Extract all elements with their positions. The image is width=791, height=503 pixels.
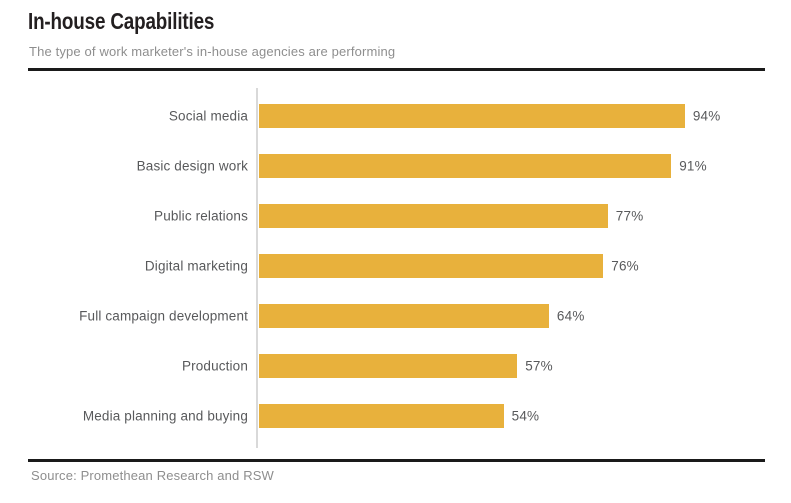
page-title: In-house Capabilities	[28, 8, 214, 35]
bar	[259, 104, 685, 128]
bar-row: Public relations77%	[0, 191, 791, 241]
category-label: Media planning and buying	[83, 409, 248, 424]
bar	[259, 304, 549, 328]
bar-value-label: 91%	[679, 159, 707, 174]
category-label: Basic design work	[137, 159, 248, 174]
category-label: Production	[182, 359, 248, 374]
source-note: Source: Promethean Research and RSW	[31, 468, 274, 483]
chart-subtitle: The type of work marketer's in-house age…	[29, 44, 395, 59]
bar-value-label: 77%	[616, 209, 644, 224]
bar-value-label: 64%	[557, 309, 585, 324]
bar-value-label: 76%	[611, 259, 639, 274]
category-label: Digital marketing	[145, 259, 248, 274]
category-label: Full campaign development	[79, 309, 248, 324]
bar	[259, 404, 504, 428]
header-divider	[28, 68, 765, 71]
category-label: Public relations	[154, 209, 248, 224]
bar-value-label: 57%	[525, 359, 553, 374]
bar-row: Digital marketing76%	[0, 241, 791, 291]
bar-value-label: 54%	[512, 409, 540, 424]
bar	[259, 354, 517, 378]
bar-row: Media planning and buying54%	[0, 391, 791, 441]
footer-divider	[28, 459, 765, 462]
bar	[259, 254, 603, 278]
category-label: Social media	[169, 109, 248, 124]
bar	[259, 204, 608, 228]
bar	[259, 154, 671, 178]
bar-row: Full campaign development64%	[0, 291, 791, 341]
chart-page: In-house Capabilities The type of work m…	[0, 0, 791, 503]
bar-value-label: 94%	[693, 109, 721, 124]
bar-row: Social media94%	[0, 91, 791, 141]
bar-row: Basic design work91%	[0, 141, 791, 191]
bar-chart-plot: Social media94%Basic design work91%Publi…	[0, 80, 791, 455]
bar-row: Production57%	[0, 341, 791, 391]
